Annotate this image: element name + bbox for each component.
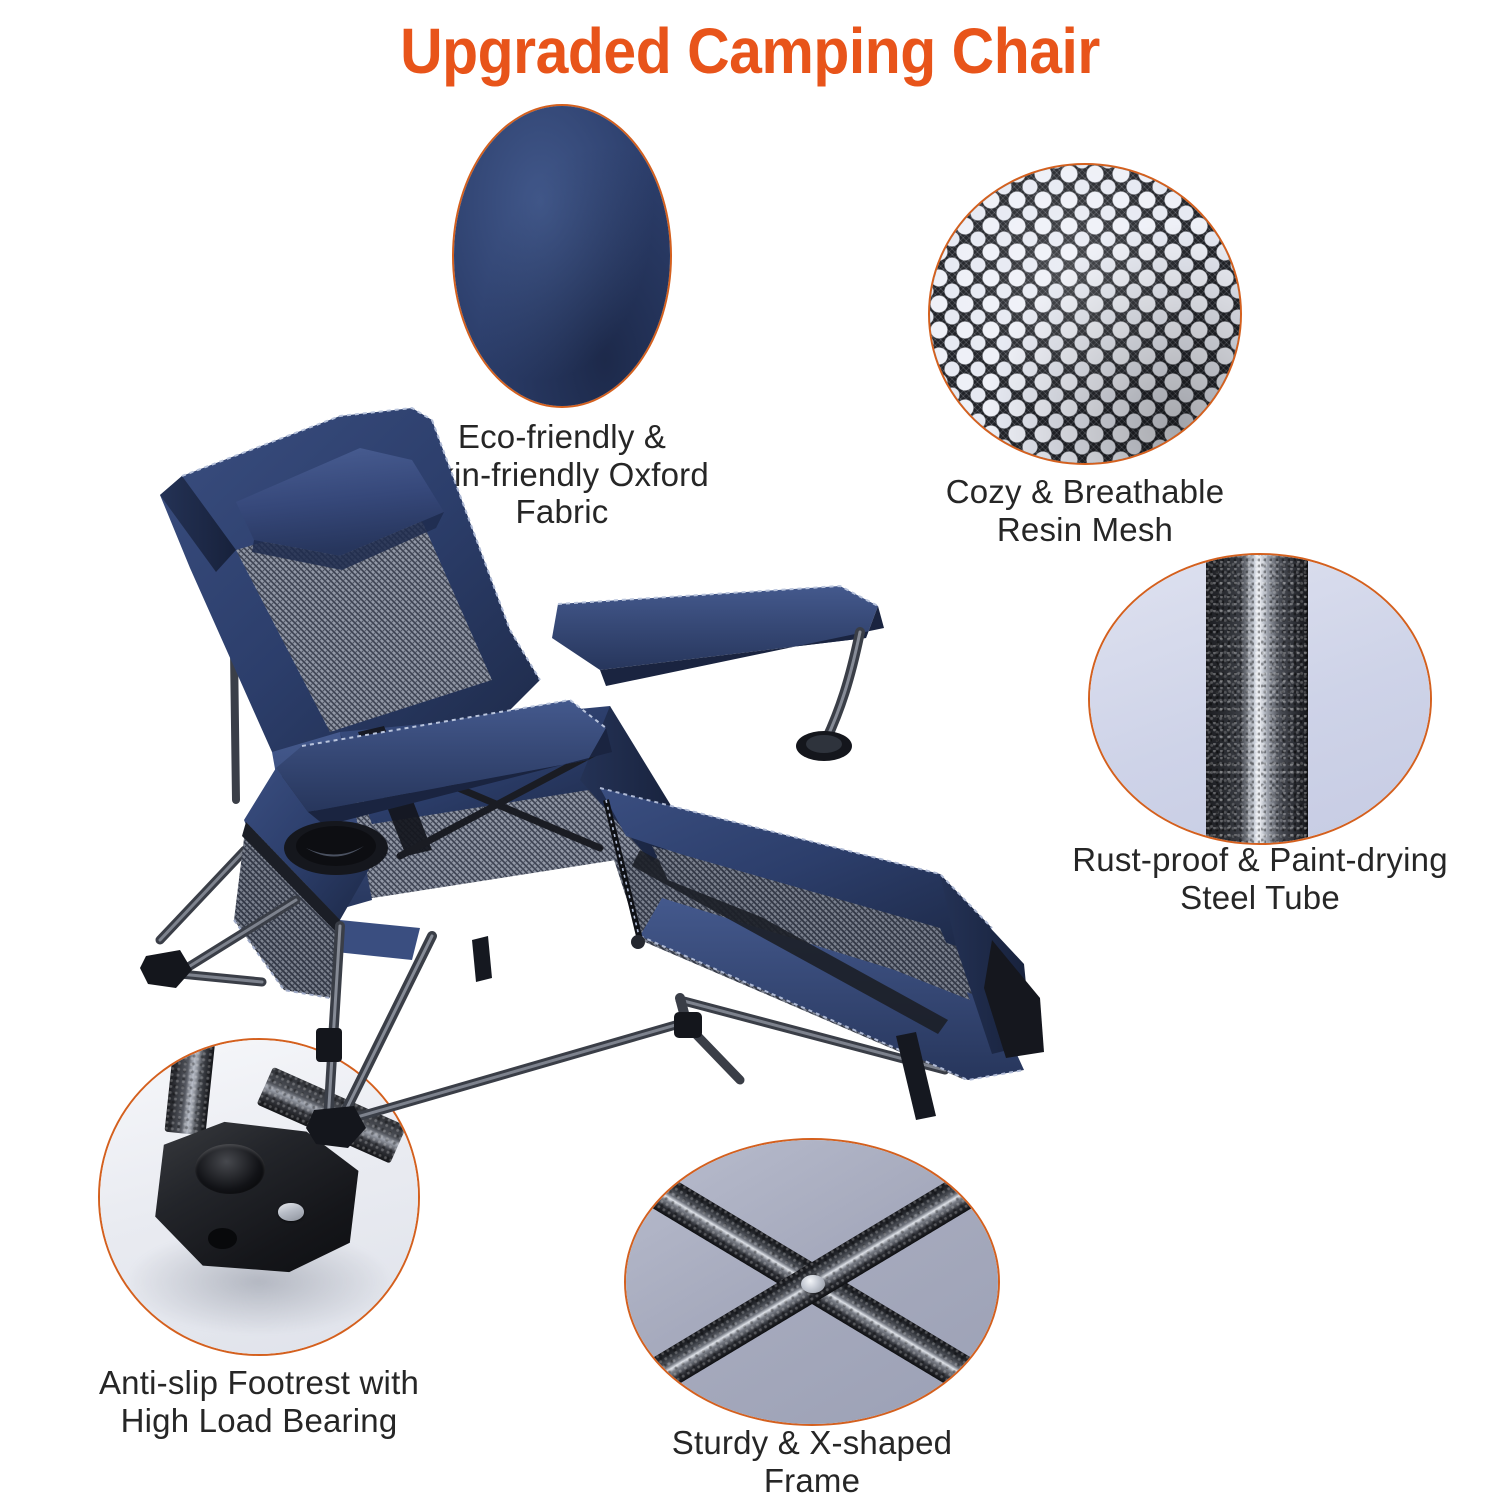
- steel-tube-swatch: [1088, 553, 1432, 845]
- callout-x-shaped-frame-caption: Sturdy & X-shaped Frame: [614, 1424, 1010, 1499]
- callout-steel-tube: Rust-proof & Paint-drying Steel Tube: [1088, 553, 1432, 845]
- bracket-pin-hole: [208, 1228, 237, 1248]
- callout-anti-slip-footrest-caption: Anti-slip Footrest with High Load Bearin…: [56, 1364, 462, 1439]
- steel-tube-body: [1206, 553, 1308, 845]
- callout-oxford-fabric: Eco-friendly & Skin-friendly Oxford Fabr…: [452, 104, 672, 408]
- swatch-shading: [454, 106, 670, 406]
- cup-holder-flap: [336, 920, 420, 960]
- right-armrest-support: [826, 632, 860, 740]
- camping-chair-illustration: [40, 380, 1100, 1190]
- joint-right: [674, 1012, 702, 1038]
- page-title: Upgraded Camping Chair: [60, 14, 1440, 88]
- foot-joint-center: [306, 1106, 366, 1148]
- steel-paint-grain: [1206, 553, 1308, 845]
- bracket-screw: [278, 1203, 303, 1220]
- product-image-camping-chair: [40, 380, 1100, 1190]
- joint-mid-slider: [316, 1028, 342, 1062]
- zipper-pull: [631, 935, 645, 949]
- grommet-inner: [806, 735, 842, 753]
- seat-hanging-strap: [472, 936, 492, 982]
- oxford-fabric-swatch: [452, 104, 672, 408]
- foot-joint-left: [140, 950, 192, 988]
- infographic-canvas: Upgraded Camping Chair Eco-friendly & Sk…: [0, 0, 1500, 1500]
